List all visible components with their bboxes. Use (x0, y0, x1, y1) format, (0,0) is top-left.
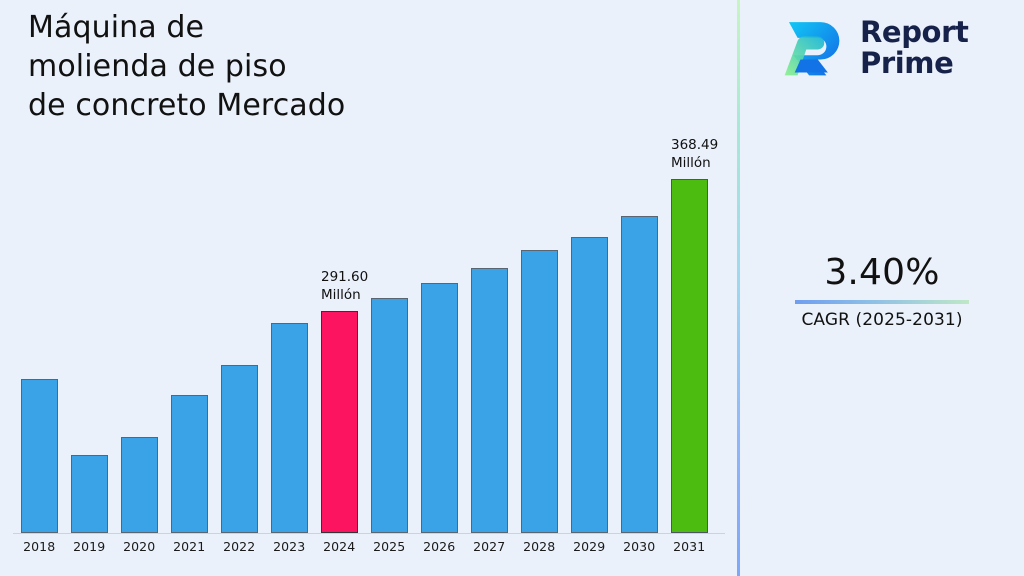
bar-2019[interactable] (71, 455, 108, 533)
report-prime-logo-icon (776, 12, 848, 84)
x-tick-2027: 2027 (464, 539, 514, 554)
value-callout-2024: 291.60 Millón (321, 268, 368, 304)
brand-panel: Report Prime 3.40% CAGR (2025-2031) (740, 0, 1024, 576)
x-tick-2022: 2022 (214, 539, 264, 554)
x-tick-2021: 2021 (164, 539, 214, 554)
bar-2031[interactable] (671, 179, 708, 533)
cagr-value: 3.40% (740, 252, 1024, 294)
bar-2026[interactable] (421, 283, 458, 533)
x-tick-2019: 2019 (64, 539, 114, 554)
bar-2028[interactable] (521, 250, 558, 533)
bar-chart: 2018201920202021202220232024202520262027… (0, 0, 737, 576)
bar-2030[interactable] (621, 216, 658, 533)
chart-panel: Máquina de molienda de piso de concreto … (0, 0, 737, 576)
bar-2018[interactable] (21, 379, 58, 533)
x-tick-2031: 2031 (664, 539, 714, 554)
x-tick-2025: 2025 (364, 539, 414, 554)
bar-2022[interactable] (221, 365, 258, 533)
bar-2024[interactable] (321, 311, 358, 533)
value-callout-2031: 368.49 Millón (671, 136, 718, 172)
brand-name: Report Prime (860, 17, 968, 79)
x-tick-2029: 2029 (564, 539, 614, 554)
bar-2027[interactable] (471, 268, 508, 533)
bar-2029[interactable] (571, 237, 608, 533)
x-tick-2030: 2030 (614, 539, 664, 554)
brand-lockup: Report Prime (776, 12, 968, 84)
cagr-divider-rule (795, 300, 969, 304)
x-tick-2028: 2028 (514, 539, 564, 554)
slide-root: Máquina de molienda de piso de concreto … (0, 0, 1024, 576)
x-tick-2023: 2023 (264, 539, 314, 554)
x-tick-2018: 2018 (14, 539, 64, 554)
x-tick-2020: 2020 (114, 539, 164, 554)
bar-2020[interactable] (121, 437, 158, 533)
x-tick-2024: 2024 (314, 539, 364, 554)
cagr-label: CAGR (2025-2031) (740, 309, 1024, 331)
bar-2025[interactable] (371, 298, 408, 533)
cagr-block: 3.40% CAGR (2025-2031) (740, 252, 1024, 331)
bar-2023[interactable] (271, 323, 308, 533)
bar-2021[interactable] (171, 395, 208, 533)
x-axis-line (13, 533, 725, 534)
x-tick-2026: 2026 (414, 539, 464, 554)
